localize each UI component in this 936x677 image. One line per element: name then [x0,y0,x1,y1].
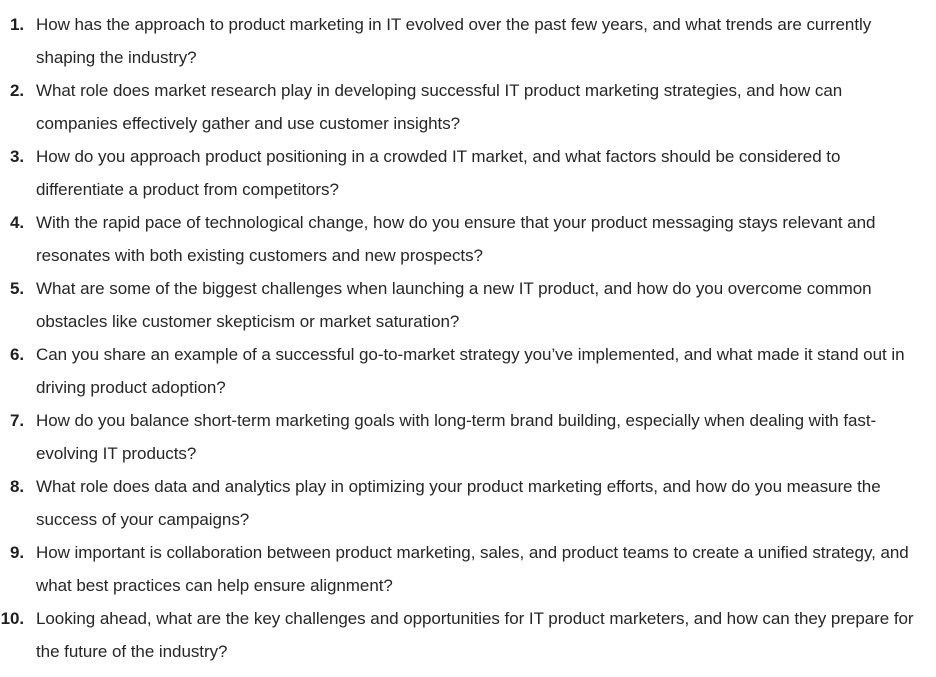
list-item-text: What role does data and analytics play i… [36,470,926,536]
list-item: 6. Can you share an example of a success… [0,338,936,404]
list-item: 9. How important is collaboration betwee… [0,536,936,602]
list-item-text: How important is collaboration between p… [36,536,926,602]
list-item-number: 4. [0,206,24,239]
list-item-text: What are some of the biggest challenges … [36,272,926,338]
list-item-number: 8. [0,470,24,503]
list-item-text: How has the approach to product marketin… [36,8,926,74]
list-item-text: Looking ahead, what are the key challeng… [36,602,926,668]
list-item: 2. What role does market research play i… [0,74,936,140]
list-item-text: How do you approach product positioning … [36,140,926,206]
list-item-number: 9. [0,536,24,569]
list-item-number: 1. [0,8,24,41]
list-item-text: With the rapid pace of technological cha… [36,206,926,272]
list-item: 5. What are some of the biggest challeng… [0,272,936,338]
list-item-number: 3. [0,140,24,173]
list-item: 4. With the rapid pace of technological … [0,206,936,272]
list-item-number: 10. [0,602,24,635]
list-item-text: Can you share an example of a successful… [36,338,926,404]
list-item: 7. How do you balance short-term marketi… [0,404,936,470]
list-item: 8. What role does data and analytics pla… [0,470,936,536]
list-item-text: What role does market research play in d… [36,74,926,140]
list-item: 10. Looking ahead, what are the key chal… [0,602,936,668]
list-item: 3. How do you approach product positioni… [0,140,936,206]
list-item-number: 6. [0,338,24,371]
document-page: 1. How has the approach to product marke… [0,0,936,677]
list-item-number: 5. [0,272,24,305]
question-list: 1. How has the approach to product marke… [0,8,936,668]
list-item: 1. How has the approach to product marke… [0,8,936,74]
list-item-number: 7. [0,404,24,437]
list-item-text: How do you balance short-term marketing … [36,404,926,470]
list-item-number: 2. [0,74,24,107]
